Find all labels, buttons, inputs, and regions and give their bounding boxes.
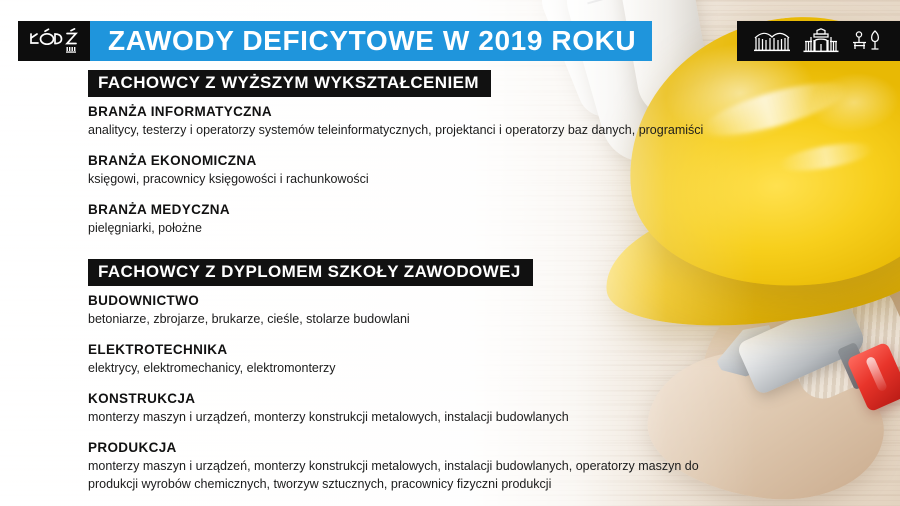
page-title: ZAWODY DEFICYTOWE W 2019 ROKU <box>108 27 636 55</box>
park-bench-tree-icon <box>851 28 885 54</box>
entry-description: pielęgniarki, położne <box>88 220 708 237</box>
palace-building-icon <box>802 28 840 54</box>
entry-konstrukcja: KONSTRUKCJA monterzy maszyn i urządzeń, … <box>88 391 728 426</box>
entry-title: KONSTRUKCJA <box>88 391 728 408</box>
entry-branza-informatyczna: BRANŻA INFORMATYCZNA analitycy, testerzy… <box>88 104 728 139</box>
content-area: FACHOWCY Z WYŻSZYM WYKSZTAŁCENIEM BRANŻA… <box>88 70 728 506</box>
section-heading: FACHOWCY Z WYŻSZYM WYKSZTAŁCENIEM <box>88 70 491 97</box>
entry-description: monterzy maszyn i urządzeń, monterzy kon… <box>88 458 708 493</box>
entry-branza-ekonomiczna: BRANŻA EKONOMICZNA księgowi, pracownicy … <box>88 153 728 188</box>
entry-elektrotechnika: ELEKTROTECHNIKA elektrycy, elektromechan… <box>88 342 728 377</box>
entry-description: elektrycy, elektromechanicy, elektromont… <box>88 360 708 377</box>
poster-title-bar: ZAWODY DEFICYTOWE W 2019 ROKU <box>90 21 652 61</box>
entry-produkcja: PRODUKCJA monterzy maszyn i urządzeń, mo… <box>88 440 728 492</box>
entry-description: księgowi, pracownicy księgowości i rachu… <box>88 171 708 188</box>
entry-title: PRODUKCJA <box>88 440 728 457</box>
landmark-icon-strip <box>737 21 900 61</box>
poster-header: ZAWODY DEFICYTOWE W 2019 ROKU <box>18 21 652 61</box>
entry-description: monterzy maszyn i urządzeń, monterzy kon… <box>88 409 708 426</box>
lodz-city-logo <box>18 21 90 61</box>
entry-branza-medyczna: BRANŻA MEDYCZNA pielęgniarki, położne <box>88 202 728 237</box>
entry-title: ELEKTROTECHNIKA <box>88 342 728 359</box>
entry-title: BUDOWNICTWO <box>88 293 728 310</box>
arcade-bridge-icon <box>753 29 791 53</box>
entry-title: BRANŻA MEDYCZNA <box>88 202 728 219</box>
entry-budownictwo: BUDOWNICTWO betoniarze, zbrojarze, bruka… <box>88 293 728 328</box>
entry-description: analitycy, testerzy i operatorzy systemó… <box>88 122 708 139</box>
infographic-poster: ZAWODY DEFICYTOWE W 2019 ROKU <box>0 0 900 506</box>
entry-title: BRANŻA EKONOMICZNA <box>88 153 728 170</box>
entry-description: betoniarze, zbrojarze, brukarze, cieśle,… <box>88 311 708 328</box>
section-heading: FACHOWCY Z DYPLOMEM SZKOŁY ZAWODOWEJ <box>88 259 533 286</box>
section-higher-education: FACHOWCY Z WYŻSZYM WYKSZTAŁCENIEM BRANŻA… <box>88 70 728 237</box>
section-vocational-school: FACHOWCY Z DYPLOMEM SZKOŁY ZAWODOWEJ BUD… <box>88 237 728 506</box>
entry-title: BRANŻA INFORMATYCZNA <box>88 104 728 121</box>
